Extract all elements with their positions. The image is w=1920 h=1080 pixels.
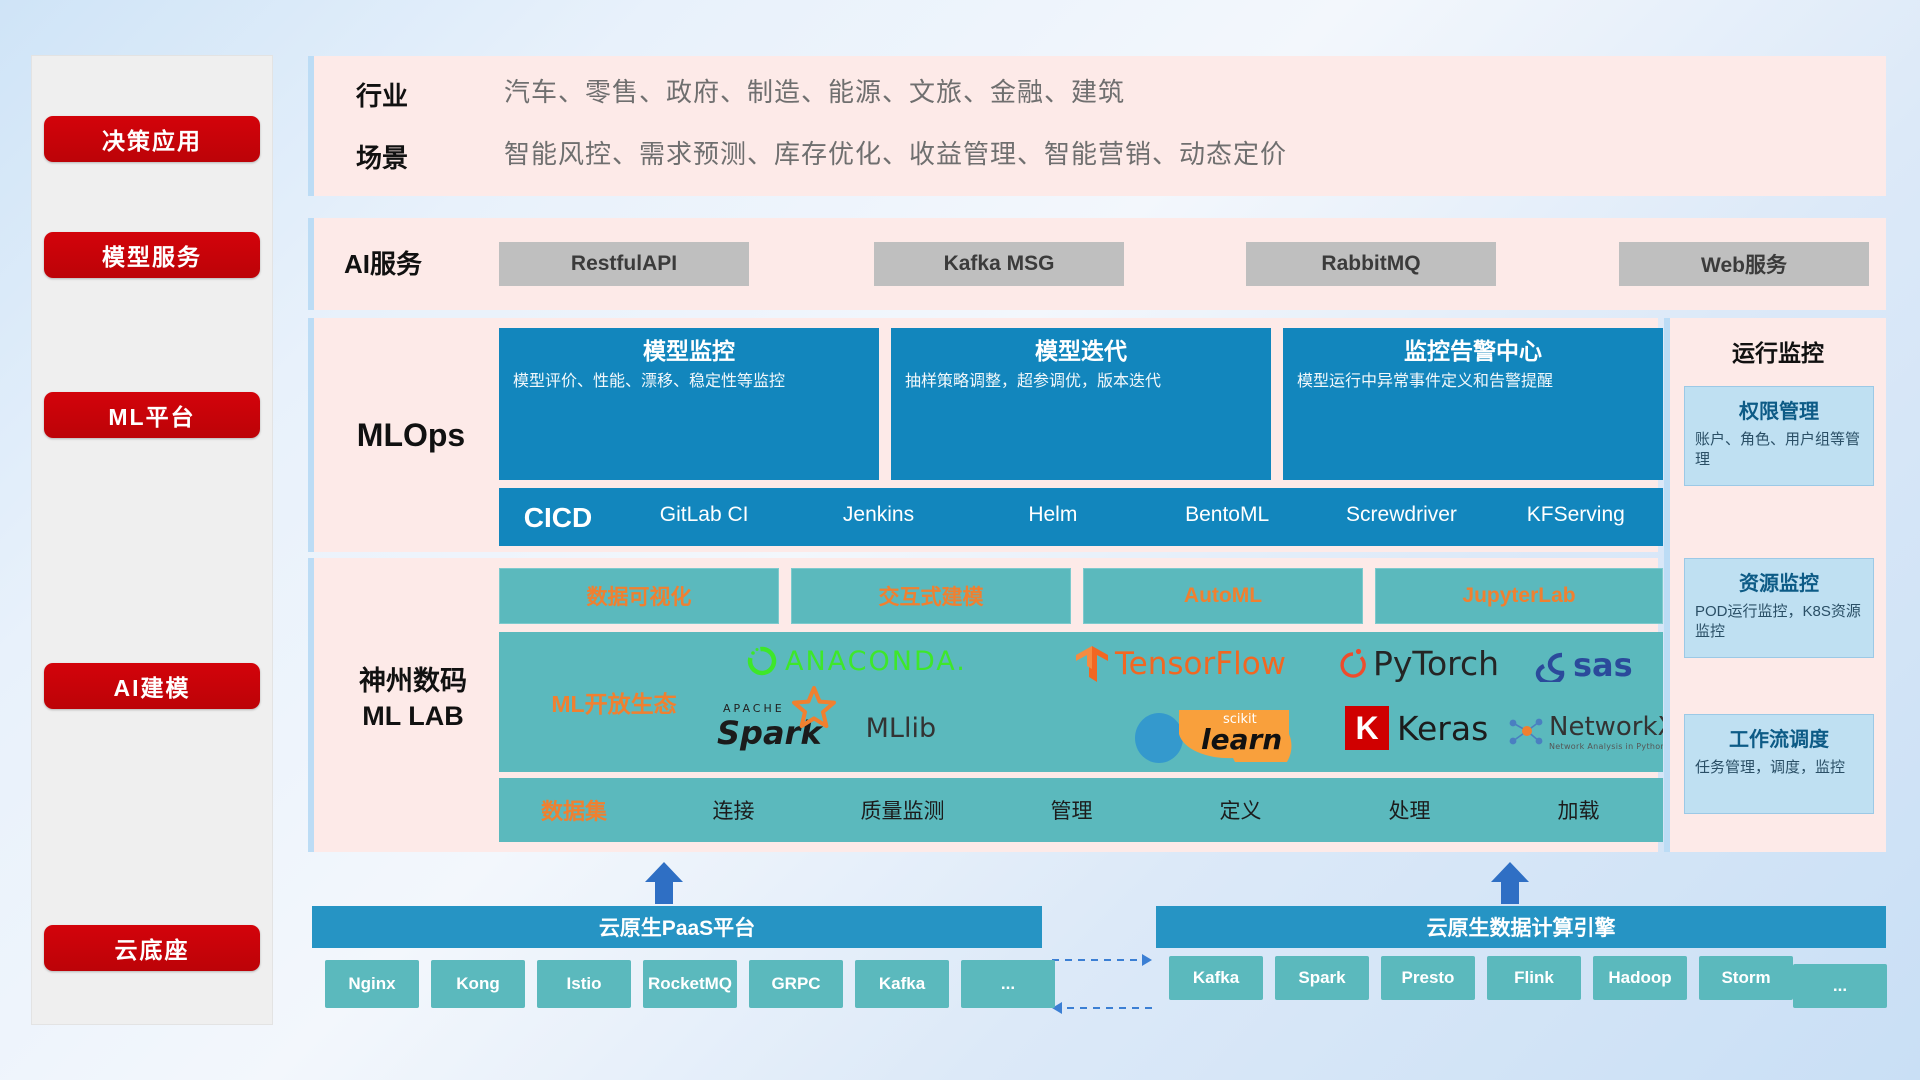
chip-label: ... (1833, 977, 1847, 996)
chip-label: RocketMQ (648, 975, 732, 994)
monitoring-title: 运行监控 (1670, 334, 1886, 368)
ai-service-band: AI服务 RestfulAPI Kafka MSG RabbitMQ Web服务 (308, 218, 1886, 310)
dataset-item-processing[interactable]: 处理 (1325, 795, 1494, 825)
chip-label: Hadoop (1608, 969, 1671, 988)
monitoring-card-permission[interactable]: 权限管理 账户、角色、用户组等管理 (1684, 386, 1874, 486)
keras-mark: K (1345, 706, 1389, 750)
ai-service-chip-web-service[interactable]: Web服务 (1619, 242, 1869, 286)
networkx-logo-text: NetworkX (1549, 712, 1663, 742)
scenario-value: 智能风控、需求预测、库存优化、收益管理、智能营销、动态定价 (504, 134, 1287, 171)
chip-label: Kafka (879, 975, 925, 994)
dataset-item-loading[interactable]: 加载 (1494, 795, 1663, 825)
card-desc: 抽样策略调整，超参调优，版本迭代 (905, 371, 1257, 393)
ml-lab-label: 神州数码 ML LAB (328, 664, 498, 734)
card-title: 工作流调度 (1695, 723, 1863, 752)
paas-chip-kong[interactable]: Kong (431, 960, 525, 1008)
industry-label: 行业 (356, 70, 466, 118)
card-desc: 任务管理，调度，监控 (1695, 758, 1863, 778)
chip-label: RestfulAPI (571, 252, 677, 276)
paas-chip-more[interactable]: ... (961, 960, 1055, 1008)
dataset-item-quality-monitoring[interactable]: 质量监测 (818, 795, 987, 825)
card-title: 监控告警中心 (1297, 338, 1649, 364)
dashed-arrows (1050, 946, 1154, 1023)
industry-value: 汽车、零售、政府、制造、能源、文旅、金融、建筑 (504, 72, 1125, 109)
networkx-tagline: Network Analysis in Python (1549, 742, 1663, 751)
paas-platform-bar: 云原生PaaS平台 (312, 906, 1042, 948)
card-title: 资源监控 (1695, 567, 1863, 596)
ml-lab-band: 神州数码 ML LAB 数据可视化 交互式建模 AutoML JupyterLa… (308, 558, 1658, 852)
rail-item-decision-app[interactable]: 决策应用 (44, 116, 260, 162)
pytorch-logo-text: PyTorch (1373, 644, 1499, 683)
chip-label: Presto (1402, 969, 1455, 988)
engine-chip-hadoop[interactable]: Hadoop (1593, 956, 1687, 1000)
cicd-item-gitlab-ci[interactable]: GitLab CI (617, 488, 791, 526)
paas-chip-istio[interactable]: Istio (537, 960, 631, 1008)
chip-label: Kafka MSG (944, 252, 1055, 276)
cicd-item-bentoml[interactable]: BentoML (1140, 488, 1314, 526)
data-engine-title: 云原生数据计算引擎 (1427, 912, 1616, 942)
sas-logo-text: sas (1573, 646, 1633, 684)
chip-label: Kong (456, 975, 499, 994)
tool-chip-jupyterlab[interactable]: JupyterLab (1375, 568, 1663, 624)
chip-label: AutoML (1184, 584, 1262, 608)
engine-chip-kafka[interactable]: Kafka (1169, 956, 1263, 1000)
ai-service-chip-restfulapi[interactable]: RestfulAPI (499, 242, 749, 286)
card-title: 权限管理 (1695, 395, 1863, 424)
cicd-item-kfserving[interactable]: KFServing (1489, 488, 1663, 526)
rail-item-model-service[interactable]: 模型服务 (44, 232, 260, 278)
keras-logo-text: Keras (1397, 709, 1488, 748)
mlops-label: MLOps (336, 410, 486, 460)
chip-label: Web服务 (1701, 249, 1787, 279)
tensorflow-logo-text: TensorFlow (1115, 646, 1286, 682)
spark-apache-text: APACHE (723, 702, 785, 715)
ai-service-label: AI服务 (344, 240, 474, 284)
cicd-bar: CICD GitLab CI Jenkins Helm BentoML Scre… (499, 488, 1663, 546)
tool-chip-interactive-modeling[interactable]: 交互式建模 (791, 568, 1071, 624)
ai-service-chip-rabbitmq[interactable]: RabbitMQ (1246, 242, 1496, 286)
mlops-card-alert-center[interactable]: 监控告警中心 模型运行中异常事件定义和告警提醒 (1283, 328, 1663, 480)
rail-item-ai-modeling[interactable]: AI建模 (44, 663, 260, 709)
anaconda-logo: ANACONDA. (745, 644, 967, 678)
ml-ecosystem-box: ML开放生态 ANACONDA. APACHE Spark MLli (499, 632, 1663, 772)
left-rail: 决策应用 模型服务 ML平台 AI建模 云底座 (32, 56, 272, 1024)
learn-text: learn (1201, 723, 1282, 756)
paas-chip-rocketmq[interactable]: RocketMQ (643, 960, 737, 1008)
paas-platform-title: 云原生PaaS平台 (599, 912, 755, 942)
ml-lab-label-line1: 神州数码 (359, 664, 467, 699)
sas-logo: sas (1535, 646, 1633, 684)
chip-label: Nginx (348, 975, 395, 994)
networkx-logo: NetworkX Network Analysis in Python (1505, 712, 1663, 751)
dataset-row: 数据集 连接 质量监测 管理 定义 处理 加载 (499, 778, 1663, 842)
chip-label: 交互式建模 (879, 581, 984, 611)
mlops-card-model-monitoring[interactable]: 模型监控 模型评价、性能、漂移、稳定性等监控 (499, 328, 879, 480)
mlops-band: MLOps 模型监控 模型评价、性能、漂移、稳定性等监控 模型迭代 抽样策略调整… (308, 318, 1658, 552)
dataset-item-management[interactable]: 管理 (987, 795, 1156, 825)
engine-chip-more[interactable]: ... (1793, 964, 1887, 1008)
rail-label: 模型服务 (102, 238, 202, 272)
keras-logo: K Keras (1345, 706, 1488, 750)
cicd-title: CICD (499, 488, 617, 534)
chip-label: Spark (1298, 969, 1345, 988)
data-engine-bar: 云原生数据计算引擎 (1156, 906, 1886, 948)
cicd-item-screwdriver[interactable]: Screwdriver (1314, 488, 1488, 526)
rail-label: ML平台 (108, 398, 195, 432)
chip-label: RabbitMQ (1321, 252, 1420, 276)
chip-label: Flink (1514, 969, 1554, 988)
paas-chip-grpc[interactable]: GRPC (749, 960, 843, 1008)
monitoring-card-resource[interactable]: 资源监控 POD运行监控，K8S资源监控 (1684, 558, 1874, 658)
chip-label: Istio (567, 975, 602, 994)
rail-item-cloud-base[interactable]: 云底座 (44, 925, 260, 971)
card-desc: 模型评价、性能、漂移、稳定性等监控 (513, 371, 865, 393)
dataset-item-definition[interactable]: 定义 (1156, 795, 1325, 825)
scikit-learn-logo: scikit learn (1133, 706, 1293, 767)
rail-item-ml-platform[interactable]: ML平台 (44, 392, 260, 438)
chip-label: GRPC (771, 975, 820, 994)
paas-chip-kafka[interactable]: Kafka (855, 960, 949, 1008)
tool-chip-data-visualization[interactable]: 数据可视化 (499, 568, 779, 624)
card-desc: 模型运行中异常事件定义和告警提醒 (1297, 371, 1649, 393)
rail-label: 云底座 (115, 931, 190, 965)
arrow-up-paas (641, 860, 687, 911)
engine-chip-presto[interactable]: Presto (1381, 956, 1475, 1000)
engine-chip-spark[interactable]: Spark (1275, 956, 1369, 1000)
chip-label: JupyterLab (1462, 584, 1575, 608)
dataset-item-connect[interactable]: 连接 (649, 795, 818, 825)
ai-service-chip-kafka-msg[interactable]: Kafka MSG (874, 242, 1124, 286)
chip-label: ... (1001, 975, 1015, 994)
dataset-head: 数据集 (499, 794, 649, 826)
engine-chip-storm[interactable]: Storm (1699, 956, 1793, 1000)
paas-chip-nginx[interactable]: Nginx (325, 960, 419, 1008)
pytorch-logo: PyTorch (1337, 644, 1499, 683)
cicd-item-jenkins[interactable]: Jenkins (791, 488, 965, 526)
decision-application-band: 行业 汽车、零售、政府、制造、能源、文旅、金融、建筑 场景 智能风控、需求预测、… (308, 56, 1886, 196)
card-desc: 账户、角色、用户组等管理 (1695, 430, 1863, 471)
chip-label: 数据可视化 (587, 581, 692, 611)
cicd-item-helm[interactable]: Helm (966, 488, 1140, 526)
card-title: 模型迭代 (905, 338, 1257, 364)
scenario-label: 场景 (356, 132, 466, 180)
tensorflow-logo: TensorFlow (1073, 644, 1286, 684)
rail-label: AI建模 (114, 669, 191, 703)
ml-ecosystem-label: ML开放生态 (509, 678, 719, 726)
rail-label: 决策应用 (102, 122, 202, 156)
anaconda-logo-text: ANACONDA. (785, 646, 967, 677)
arrow-up-engine (1487, 860, 1533, 911)
ml-lab-label-line2: ML LAB (362, 699, 464, 734)
monitoring-card-workflow[interactable]: 工作流调度 任务管理，调度，监控 (1684, 714, 1874, 814)
chip-label: Storm (1721, 969, 1770, 988)
architecture-diagram: 决策应用 模型服务 ML平台 AI建模 云底座 行业 汽车、零售、政府、制造、能… (0, 0, 1920, 1080)
monitoring-column: 运行监控 权限管理 账户、角色、用户组等管理 资源监控 POD运行监控，K8S资… (1664, 318, 1886, 852)
engine-chip-flink[interactable]: Flink (1487, 956, 1581, 1000)
tool-chip-automl[interactable]: AutoML (1083, 568, 1363, 624)
mlops-card-model-iteration[interactable]: 模型迭代 抽样策略调整，超参调优，版本迭代 (891, 328, 1271, 480)
chip-label: Kafka (1193, 969, 1239, 988)
mllib-logo-text: MLlib (866, 713, 936, 744)
spark-mllib-logo: APACHE Spark MLlib (717, 704, 936, 752)
card-title: 模型监控 (513, 338, 865, 364)
card-desc: POD运行监控，K8S资源监控 (1695, 602, 1863, 643)
